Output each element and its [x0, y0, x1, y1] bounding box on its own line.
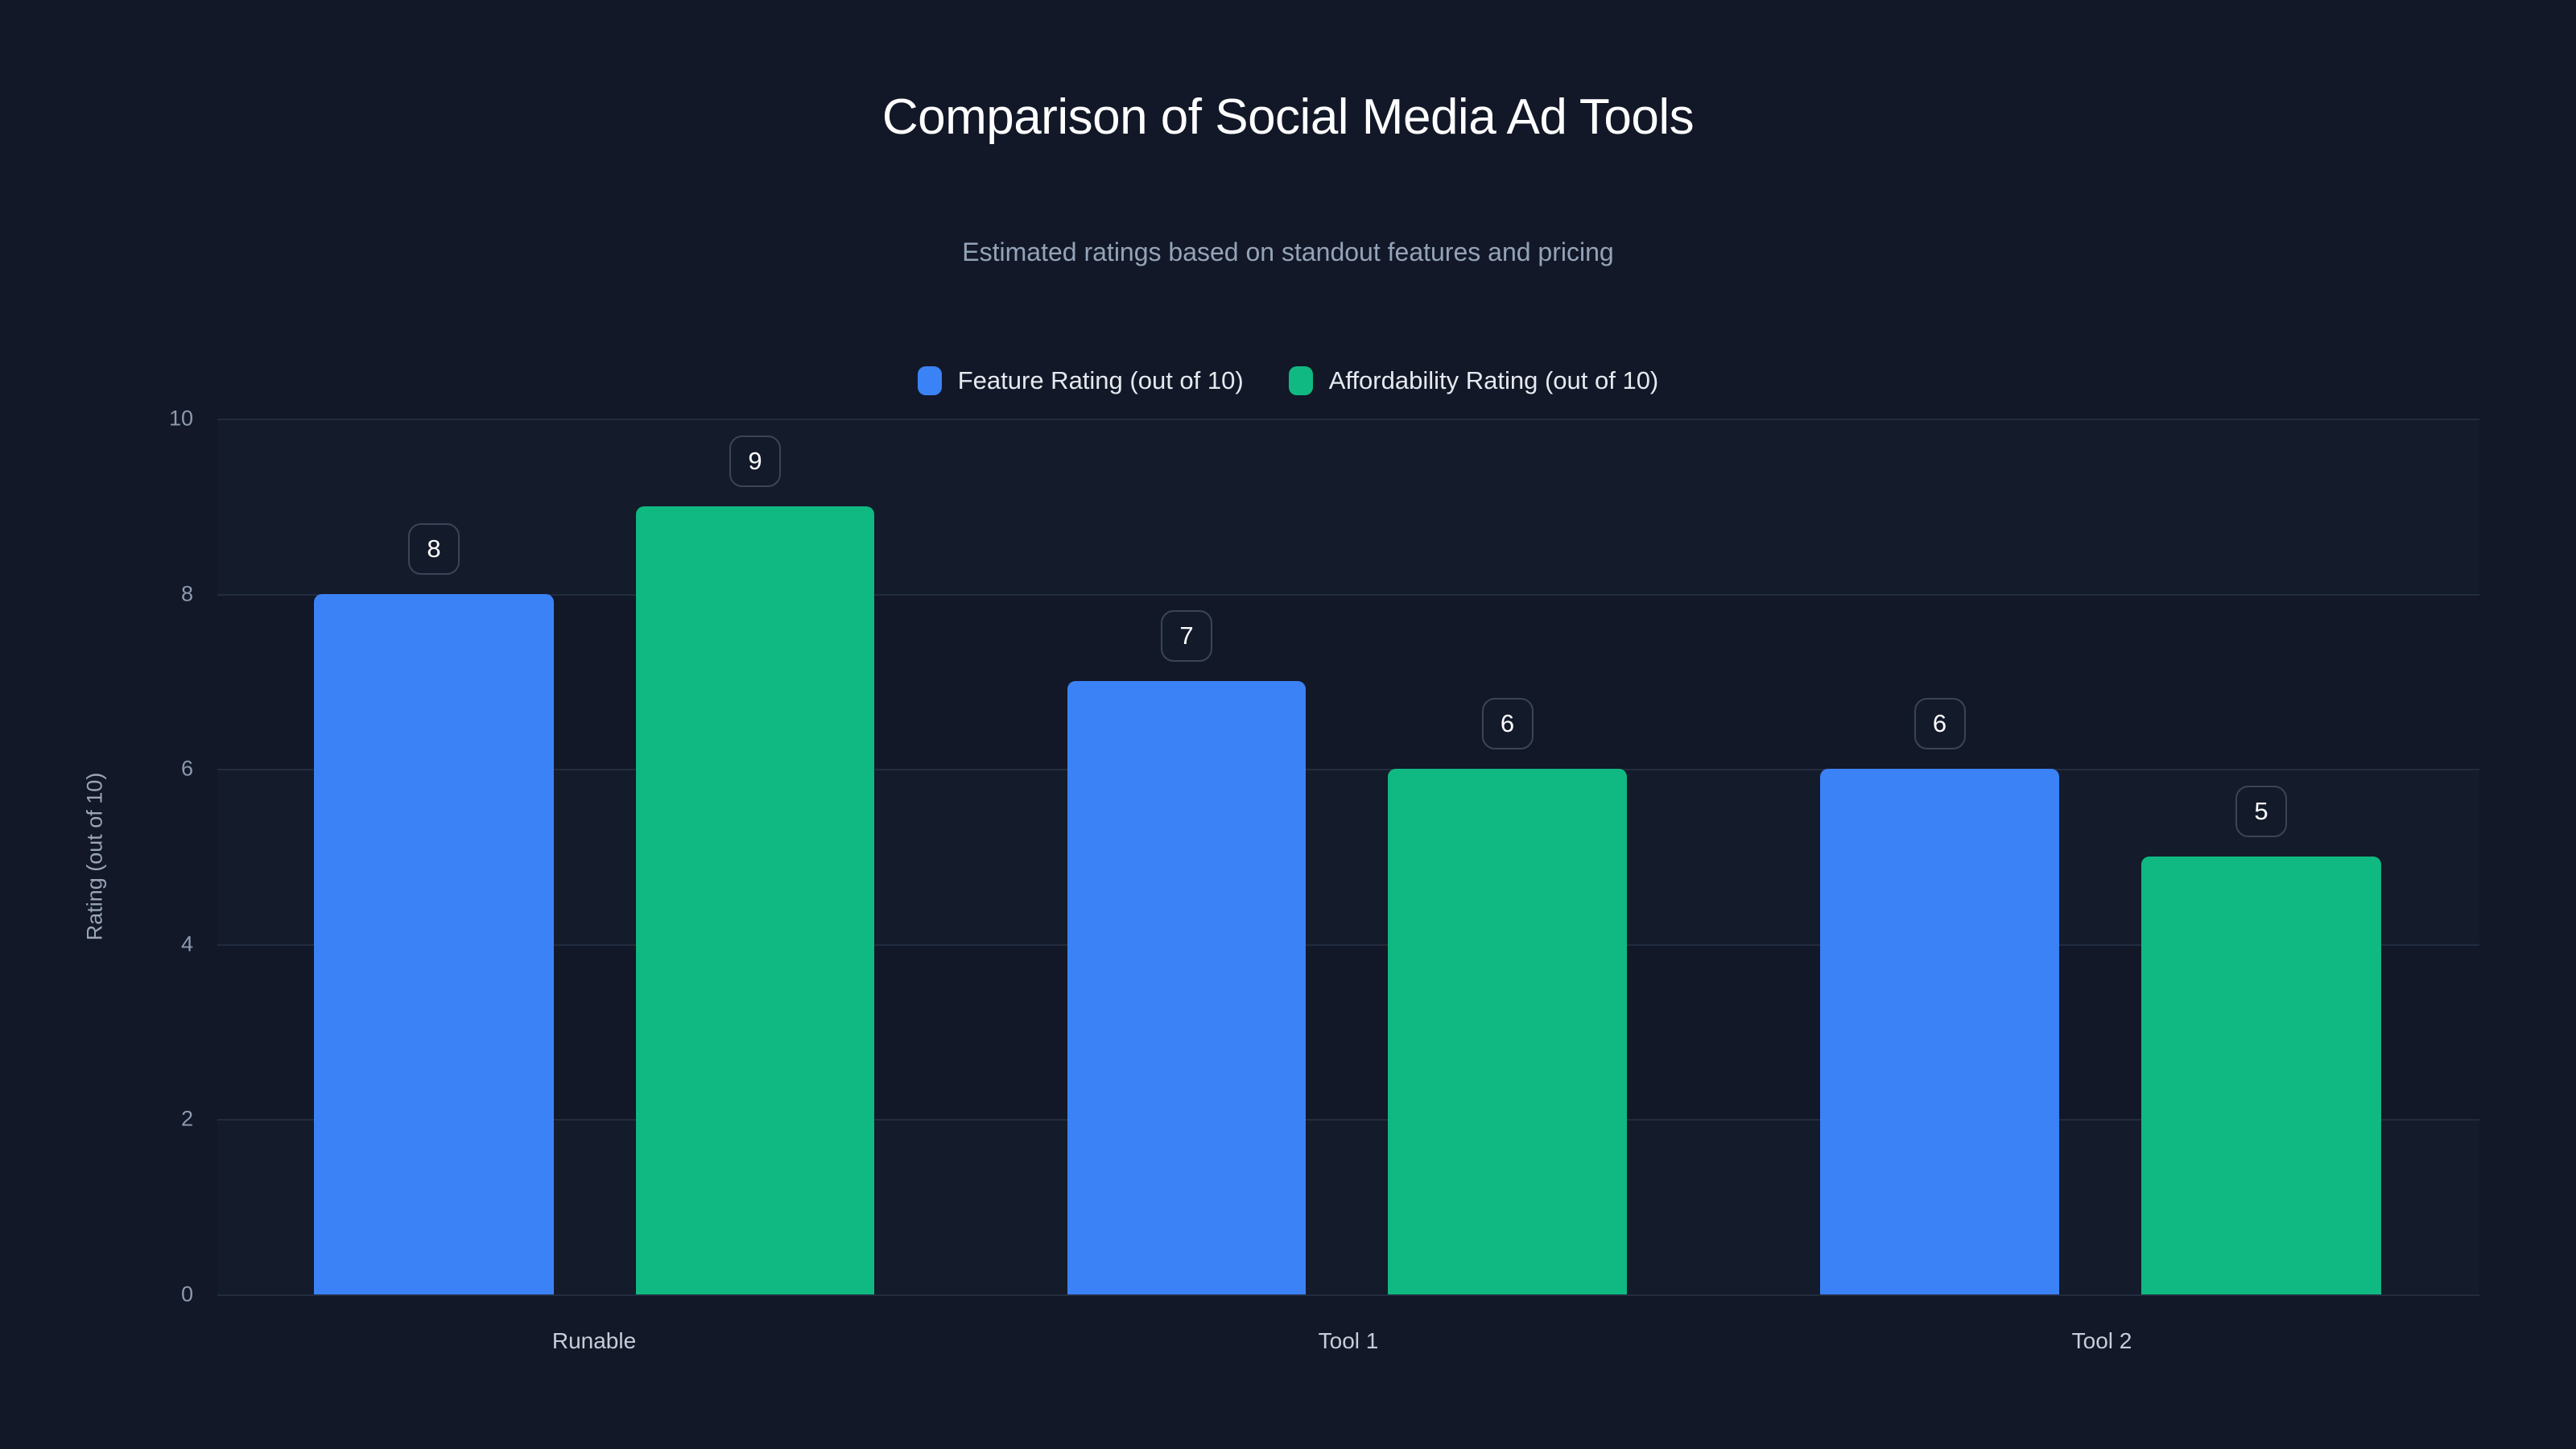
bar-tool1-feature-value-badge: 7: [1161, 610, 1212, 662]
chart-legend: Feature Rating (out of 10) Affordability…: [0, 366, 2576, 395]
legend-swatch-blue-icon: [918, 366, 942, 395]
plot-area: 897665: [217, 419, 2479, 1294]
bar-tool1-feature[interactable]: [1067, 681, 1306, 1294]
legend-label-affordability-rating: Affordability Rating (out of 10): [1329, 366, 1659, 395]
x-tick-label: Tool 1: [1319, 1328, 1379, 1354]
legend-item-feature-rating[interactable]: Feature Rating (out of 10): [918, 366, 1244, 395]
gridline: [217, 1119, 2479, 1121]
bar-runable-feature[interactable]: [314, 594, 554, 1294]
plot-band: [217, 419, 2479, 594]
gridline: [217, 594, 2479, 596]
y-tick-label: 0: [137, 1282, 193, 1307]
y-axis-title: Rating (out of 10): [83, 773, 108, 941]
bar-runable-affordability-value-badge: 9: [729, 436, 781, 487]
y-tick-label: 6: [137, 757, 193, 782]
page-title: Comparison of Social Media Ad Tools: [0, 89, 2576, 146]
legend-swatch-green-icon: [1289, 366, 1313, 395]
gridline: [217, 944, 2479, 946]
y-tick-label: 10: [137, 407, 193, 431]
legend-item-affordability-rating[interactable]: Affordability Rating (out of 10): [1289, 366, 1659, 395]
bar-tool2-affordability[interactable]: [2141, 857, 2381, 1294]
x-tick-label: Runable: [552, 1328, 636, 1354]
bar-tool1-affordability-value-badge: 6: [1482, 698, 1534, 749]
bar-runable-feature-value-badge: 8: [408, 523, 460, 575]
y-tick-label: 2: [137, 1107, 193, 1132]
bar-tool1-affordability[interactable]: [1388, 769, 1627, 1294]
y-tick-label: 8: [137, 581, 193, 606]
y-tick-label: 4: [137, 931, 193, 956]
bar-runable-affordability[interactable]: [636, 506, 874, 1294]
plot-band: [217, 1119, 2479, 1294]
plot-band: [217, 769, 2479, 944]
gridline: [217, 419, 2479, 420]
bar-tool2-feature[interactable]: [1820, 769, 2059, 1294]
legend-label-feature-rating: Feature Rating (out of 10): [958, 366, 1244, 395]
gridline: [217, 769, 2479, 770]
bar-tool2-feature-value-badge: 6: [1914, 698, 1966, 749]
gridline: [217, 1294, 2479, 1296]
x-tick-label: Tool 2: [2072, 1328, 2132, 1354]
chart-page: Comparison of Social Media Ad Tools Esti…: [0, 0, 2576, 1449]
chart-subtitle: Estimated ratings based on standout feat…: [0, 237, 2576, 267]
bar-tool2-affordability-value-badge: 5: [2235, 786, 2287, 837]
